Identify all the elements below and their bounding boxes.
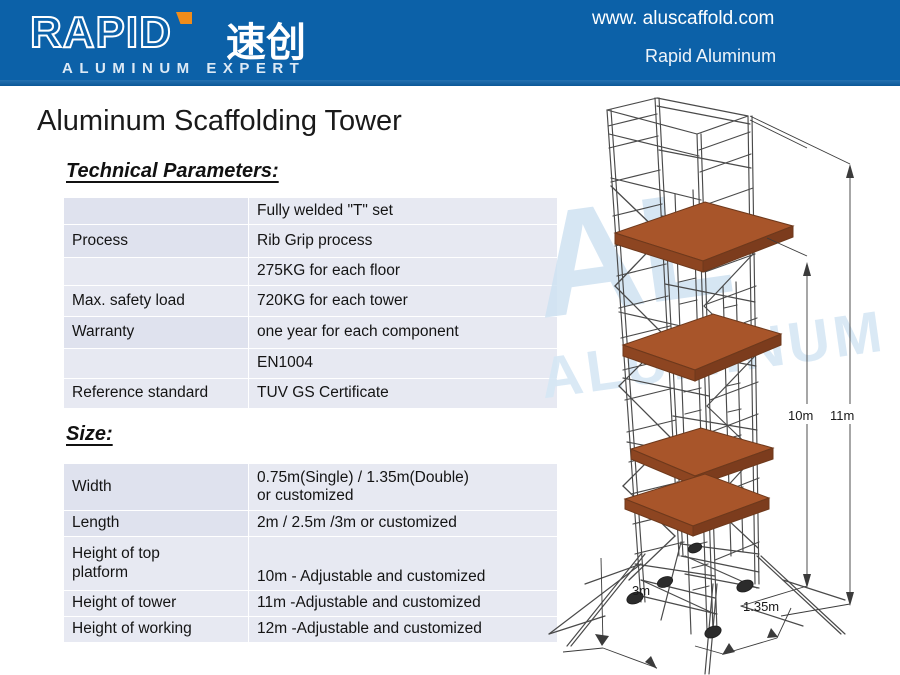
row-key: Process [64,225,249,258]
row-value: 10m - Adjustable and customized [249,537,557,591]
tower-drawing [545,86,900,675]
dimension-label-top-platform: 10m [788,408,813,423]
row-key [64,258,249,286]
table-row: Warranty one year for each component [64,317,557,349]
row-value: EN1004 [249,349,557,379]
row-key [64,349,249,379]
row-value: 720KG for each tower [249,286,557,317]
table-row: Width 0.75m(Single) / 1.35m(Double) or c… [64,464,557,511]
table-row: EN1004 [64,349,557,379]
row-value-line1: 0.75m(Single) / 1.35m(Double) [257,469,549,487]
technical-parameters-table: Fully welded "T" set Process Rib Grip pr… [64,198,557,409]
row-key-line1: Height of top [72,545,240,563]
table-row: Fully welded "T" set [64,198,557,225]
row-key: Reference standard [64,379,249,409]
platform-deck [615,202,793,272]
row-value: 275KG for each floor [249,258,557,286]
website-url: www. aluscaffold.com [592,8,774,30]
row-value: Fully welded "T" set [249,198,557,225]
page-title: Aluminum Scaffolding Tower [37,105,402,138]
logo-wordmark: RAPID [30,8,172,58]
size-table: Width 0.75m(Single) / 1.35m(Double) or c… [64,464,557,643]
row-key-line2: platform [72,564,240,582]
table-row: 275KG for each floor [64,258,557,286]
row-value: 2m / 2.5m /3m or customized [249,511,557,537]
brand-logo: RAPID 速创 ALUMINUM EXPERT [30,6,330,80]
logo-accent-icon [176,12,192,24]
company-name: Rapid Aluminum [645,46,776,67]
row-key: Height of working [64,617,249,643]
row-value: 0.75m(Single) / 1.35m(Double) or customi… [249,464,557,511]
table-row: Height of working 12m -Adjustable and cu… [64,617,557,643]
logo-tagline: ALUMINUM EXPERT [62,60,305,77]
section-heading-size: Size: [66,423,113,446]
row-value: TUV GS Certificate [249,379,557,409]
dimension-label-tower-height: 11m [830,408,854,423]
table-row: Max. safety load 720KG for each tower [64,286,557,317]
row-key: Max. safety load [64,286,249,317]
row-key: Width [64,464,249,511]
platform-deck [625,474,769,536]
row-value: 11m -Adjustable and customized [249,591,557,617]
table-row: Height of tower 11m -Adjustable and cust… [64,591,557,617]
row-key: Height of tower [64,591,249,617]
row-key [64,198,249,225]
row-value: 12m -Adjustable and customized [249,617,557,643]
row-key: Length [64,511,249,537]
row-key: Warranty [64,317,249,349]
platform-deck [623,314,781,381]
dimension-label-outrigger-span: 3m [632,583,650,598]
scaffolding-tower-illustration: AL ALUMINUM E [545,86,900,675]
page-header: RAPID 速创 ALUMINUM EXPERT www. aluscaffol… [0,0,900,86]
header-contact-block: www. aluscaffold.com Rapid Aluminum [540,0,900,86]
row-value-line2: or customized [257,487,549,505]
row-value: one year for each component [249,317,557,349]
table-row: Length 2m / 2.5m /3m or customized [64,511,557,537]
table-row: Process Rib Grip process [64,225,557,258]
table-row: Reference standard TUV GS Certificate [64,379,557,409]
row-key: Height of top platform [64,537,249,591]
dimension-label-base-width: 1.35m [743,599,779,614]
section-heading-technical: Technical Parameters: [66,160,279,183]
row-value: Rib Grip process [249,225,557,258]
table-row: Height of top platform 10m - Adjustable … [64,537,557,591]
